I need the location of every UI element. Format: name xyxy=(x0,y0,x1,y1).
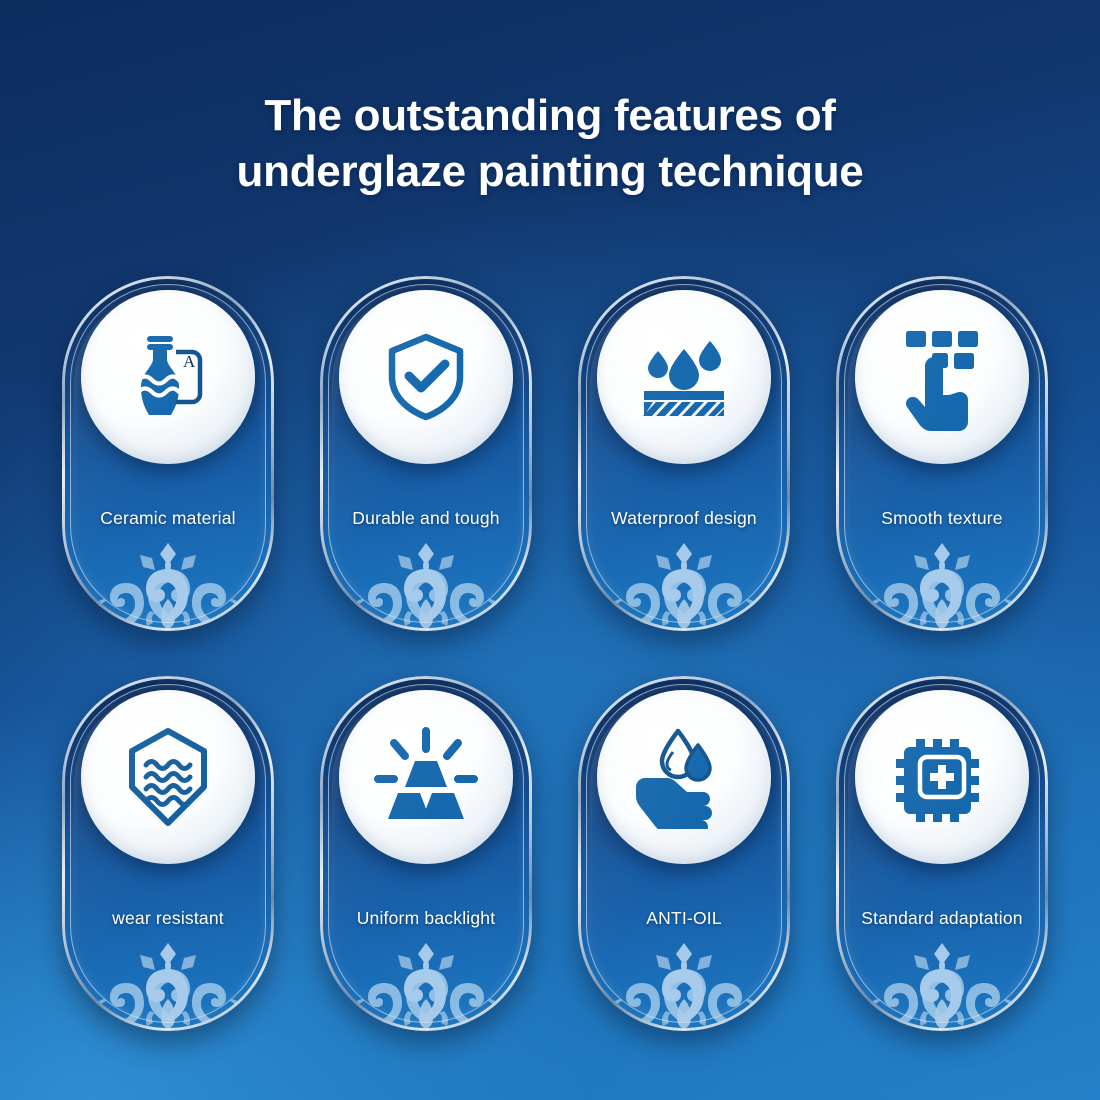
title-line-2: underglaze painting technique xyxy=(0,144,1100,200)
hand-droplet-icon xyxy=(628,725,740,829)
icon-disc xyxy=(855,690,1029,864)
card-body: A Ceramic material xyxy=(62,276,274,631)
card-body: Standard adaptation xyxy=(836,676,1048,1031)
feature-card[interactable]: Standard adaptation xyxy=(836,676,1048,1031)
damask-ornament-icon xyxy=(338,937,514,1029)
damask-ornament-icon xyxy=(596,937,772,1029)
damask-ornament-icon xyxy=(596,537,772,629)
feature-card[interactable]: Uniform backlight xyxy=(320,676,532,1031)
feature-card-grid: A Ceramic material xyxy=(62,276,1048,1031)
infographic-poster: The outstanding features of underglaze p… xyxy=(0,0,1100,1100)
shield-check-icon xyxy=(376,327,476,427)
feature-card[interactable]: wear resistant xyxy=(62,676,274,1031)
feature-card[interactable]: Durable and tough xyxy=(320,276,532,631)
card-body: Uniform backlight xyxy=(320,676,532,1031)
damask-ornament-icon xyxy=(854,937,1030,1029)
card-label: ANTI-OIL xyxy=(578,908,790,929)
card-body: ANTI-OIL xyxy=(578,676,790,1031)
card-label: Uniform backlight xyxy=(320,908,532,929)
damask-ornament-icon xyxy=(80,937,256,1029)
card-label: Standard adaptation xyxy=(836,908,1048,929)
damask-ornament-icon xyxy=(338,537,514,629)
feature-card[interactable]: ANTI-OIL xyxy=(578,676,790,1031)
card-label: Waterproof design xyxy=(578,508,790,529)
svg-text:A: A xyxy=(183,352,196,371)
card-body: Smooth texture xyxy=(836,276,1048,631)
icon-disc xyxy=(339,690,513,864)
water-droplets-surface-icon xyxy=(630,327,738,427)
card-label: Durable and tough xyxy=(320,508,532,529)
chip-plus-icon xyxy=(890,725,994,829)
icon-disc: A xyxy=(81,290,255,464)
card-body: Durable and tough xyxy=(320,276,532,631)
page-title: The outstanding features of underglaze p… xyxy=(0,88,1100,201)
card-label: Smooth texture xyxy=(836,508,1048,529)
feature-card[interactable]: Waterproof design xyxy=(578,276,790,631)
card-body: wear resistant xyxy=(62,676,274,1031)
icon-disc xyxy=(597,290,771,464)
card-label: Ceramic material xyxy=(62,508,274,529)
feature-card[interactable]: A Ceramic material xyxy=(62,276,274,631)
hex-shield-waves-icon xyxy=(118,725,218,829)
card-body: Waterproof design xyxy=(578,276,790,631)
ceramic-vase-icon: A xyxy=(116,325,220,429)
finger-touch-tiles-icon xyxy=(890,323,994,431)
card-label: wear resistant xyxy=(62,908,274,929)
icon-disc xyxy=(597,690,771,864)
icon-disc xyxy=(81,690,255,864)
title-line-1: The outstanding features of xyxy=(0,88,1100,144)
backlight-rays-icon xyxy=(370,727,482,827)
feature-card[interactable]: Smooth texture xyxy=(836,276,1048,631)
icon-disc xyxy=(855,290,1029,464)
damask-ornament-icon xyxy=(80,537,256,629)
icon-disc xyxy=(339,290,513,464)
damask-ornament-icon xyxy=(854,537,1030,629)
